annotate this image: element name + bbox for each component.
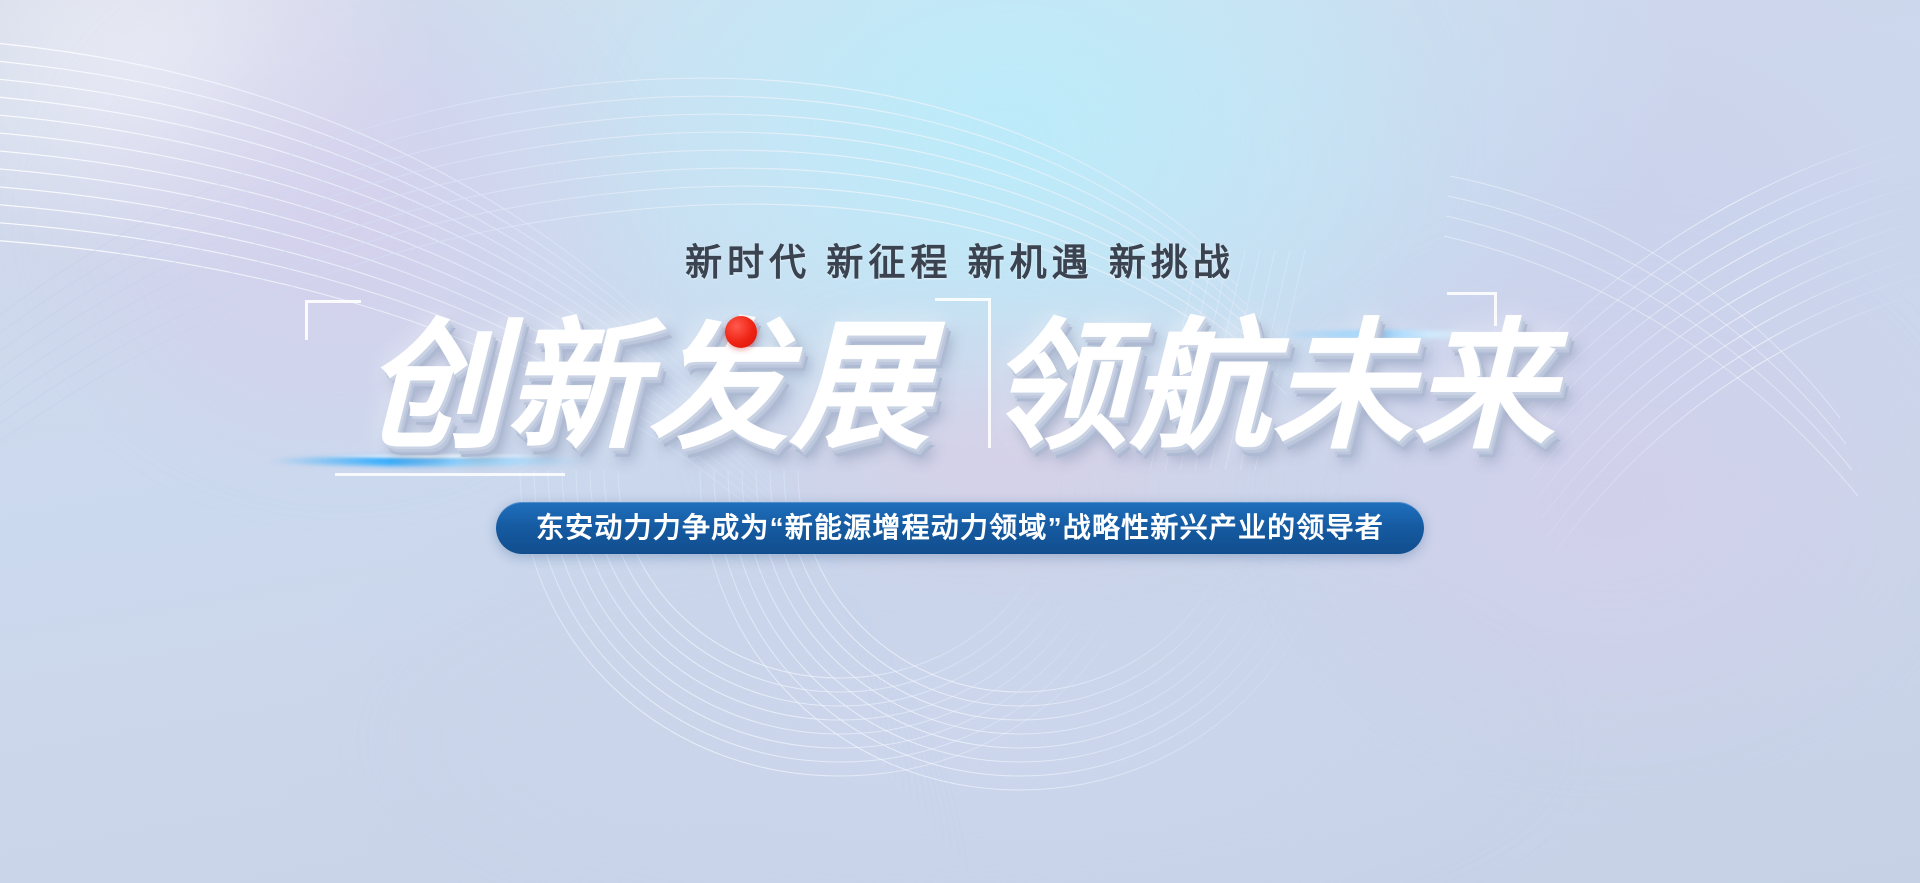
background-glow-cyan xyxy=(560,0,1460,460)
background-ribbon-lines xyxy=(0,0,1920,883)
background-glow-violet-right xyxy=(1250,220,1920,780)
banner-headline-wrap: 创新发展领航未来 xyxy=(295,302,1625,472)
corner-bracket-top-right-icon xyxy=(1447,292,1497,326)
headline-left-phrase: 创新发展 xyxy=(364,308,932,465)
red-dot-icon xyxy=(725,316,757,348)
light-streak-left-inner-icon xyxy=(315,454,565,458)
light-streak-left-icon xyxy=(267,456,597,466)
banner-content: 新时代 新征程 新机遇 新挑战 创新发展领航未来 东安动力力争成为“新能源增程动… xyxy=(0,0,1920,883)
banner-headline: 创新发展领航未来 xyxy=(295,302,1625,472)
corner-bracket-bottom-left-icon xyxy=(335,450,565,476)
promo-banner: 新时代 新征程 新机遇 新挑战 创新发展领航未来 东安动力力争成为“新能源增程动… xyxy=(0,0,1920,883)
background-glow-violet-left xyxy=(30,0,650,500)
corner-bracket-middle-icon xyxy=(935,298,991,448)
banner-eyebrow-text: 新时代 新征程 新机遇 新挑战 xyxy=(685,232,1235,286)
background-glow-top-left xyxy=(0,0,440,280)
background-glow-pink-center xyxy=(700,300,1320,600)
corner-bracket-top-left-icon xyxy=(305,300,361,340)
tagline-pill-text: 东安动力力争成为“新能源增程动力领域”战略性新兴产业的领导者 xyxy=(536,502,1384,554)
background-glow-bottom xyxy=(380,560,1560,883)
headline-right-phrase: 领航未来 xyxy=(988,308,1556,465)
light-streak-right-icon xyxy=(1277,330,1497,339)
tagline-pill[interactable]: 东安动力力争成为“新能源增程动力领域”战略性新兴产业的领导者 xyxy=(496,502,1424,554)
